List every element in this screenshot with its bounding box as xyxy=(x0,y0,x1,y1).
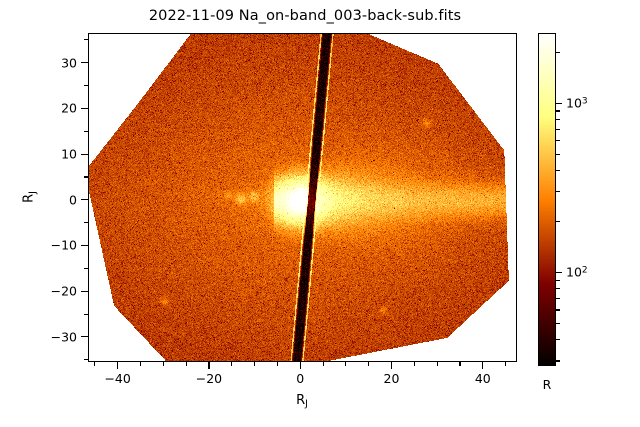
colorbar-tick-minor xyxy=(556,221,560,222)
x-tick-minor xyxy=(277,362,278,366)
colorbar-tick-minor xyxy=(556,129,560,130)
colorbar-gradient xyxy=(539,34,556,366)
colorbar-tick-minor xyxy=(556,191,560,192)
x-tick-minor xyxy=(459,362,460,366)
colorbar-tick-minor xyxy=(556,119,560,120)
y-tick-minor xyxy=(84,131,88,132)
y-axis-label-subscript: J xyxy=(27,191,38,194)
y-tick-mark xyxy=(81,291,88,292)
x-tick-minor xyxy=(186,362,187,366)
colorbar-tick-minor xyxy=(556,323,560,324)
colorbar-tick-minor xyxy=(556,309,560,310)
x-tick-label: −20 xyxy=(196,371,222,386)
y-tick-minor xyxy=(84,268,88,269)
colorbar-label: R xyxy=(543,377,552,392)
page-title: 2022-11-09 Na_on-band_003-back-sub.fits xyxy=(0,8,610,24)
x-tick-minor xyxy=(368,362,369,366)
colorbar-tick-minor xyxy=(556,360,560,361)
x-tick-label: −40 xyxy=(104,371,130,386)
x-tick-mark xyxy=(391,362,392,369)
x-axis-label: RJ xyxy=(296,393,308,410)
y-tick-label: 0 xyxy=(69,192,77,207)
x-tick-minor xyxy=(437,362,438,366)
x-tick-minor xyxy=(323,362,324,366)
y-tick-label: 30 xyxy=(61,55,77,70)
y-tick-minor xyxy=(84,359,88,360)
colorbar-tick-minor xyxy=(556,280,560,281)
y-tick-label: −10 xyxy=(51,238,77,253)
x-tick-minor xyxy=(140,362,141,366)
x-tick-minor xyxy=(414,362,415,366)
x-tick-label: 0 xyxy=(296,371,304,386)
y-tick-mark xyxy=(81,154,88,155)
x-tick-minor xyxy=(94,362,95,366)
y-tick-mark xyxy=(81,336,88,337)
x-tick-mark xyxy=(300,362,301,369)
x-tick-minor xyxy=(505,362,506,366)
y-tick-minor xyxy=(84,314,88,315)
colorbar-tick-minor xyxy=(556,298,560,299)
colorbar[interactable] xyxy=(538,33,556,366)
image-plot-area[interactable] xyxy=(88,33,517,362)
y-tick-minor xyxy=(84,85,88,86)
x-tick-minor xyxy=(254,362,255,366)
x-tick-label: 20 xyxy=(384,371,400,386)
y-tick-mark xyxy=(81,62,88,63)
y-tick-label: 20 xyxy=(61,101,77,116)
y-tick-mark xyxy=(81,199,88,200)
colorbar-tick-minor xyxy=(556,52,560,53)
x-tick-minor xyxy=(163,362,164,366)
x-axis-label-base: R xyxy=(296,393,305,408)
x-tick-minor xyxy=(231,362,232,366)
y-axis-label: RJ xyxy=(22,191,39,203)
colorbar-tick-mark xyxy=(556,103,562,104)
colorbar-tick-minor xyxy=(556,154,560,155)
colorbar-tick-minor xyxy=(556,140,560,141)
y-tick-mark xyxy=(81,245,88,246)
x-tick-mark xyxy=(117,362,118,369)
astronomical-image xyxy=(89,34,517,362)
colorbar-tick-label: 102 xyxy=(566,265,588,280)
x-tick-label: 40 xyxy=(475,371,491,386)
figure-canvas: 2022-11-09 Na_on-band_003-back-sub.fits … xyxy=(0,0,640,427)
colorbar-tick-minor xyxy=(556,339,560,340)
colorbar-tick-mark xyxy=(556,272,562,273)
y-tick-minor xyxy=(84,176,88,177)
y-axis-label-base: R xyxy=(22,194,37,203)
y-tick-minor xyxy=(84,39,88,40)
colorbar-tick-label: 103 xyxy=(566,96,588,111)
y-tick-mark xyxy=(81,108,88,109)
colorbar-tick-minor xyxy=(556,170,560,171)
y-tick-label: −30 xyxy=(51,329,77,344)
x-tick-minor xyxy=(345,362,346,366)
y-tick-label: 10 xyxy=(61,147,77,162)
colorbar-tick-minor xyxy=(556,288,560,289)
y-tick-minor xyxy=(84,222,88,223)
colorbar-tick-minor xyxy=(556,110,560,111)
y-tick-label: −20 xyxy=(51,284,77,299)
x-tick-mark xyxy=(482,362,483,369)
x-tick-mark xyxy=(208,362,209,369)
x-axis-label-subscript: J xyxy=(305,399,308,410)
